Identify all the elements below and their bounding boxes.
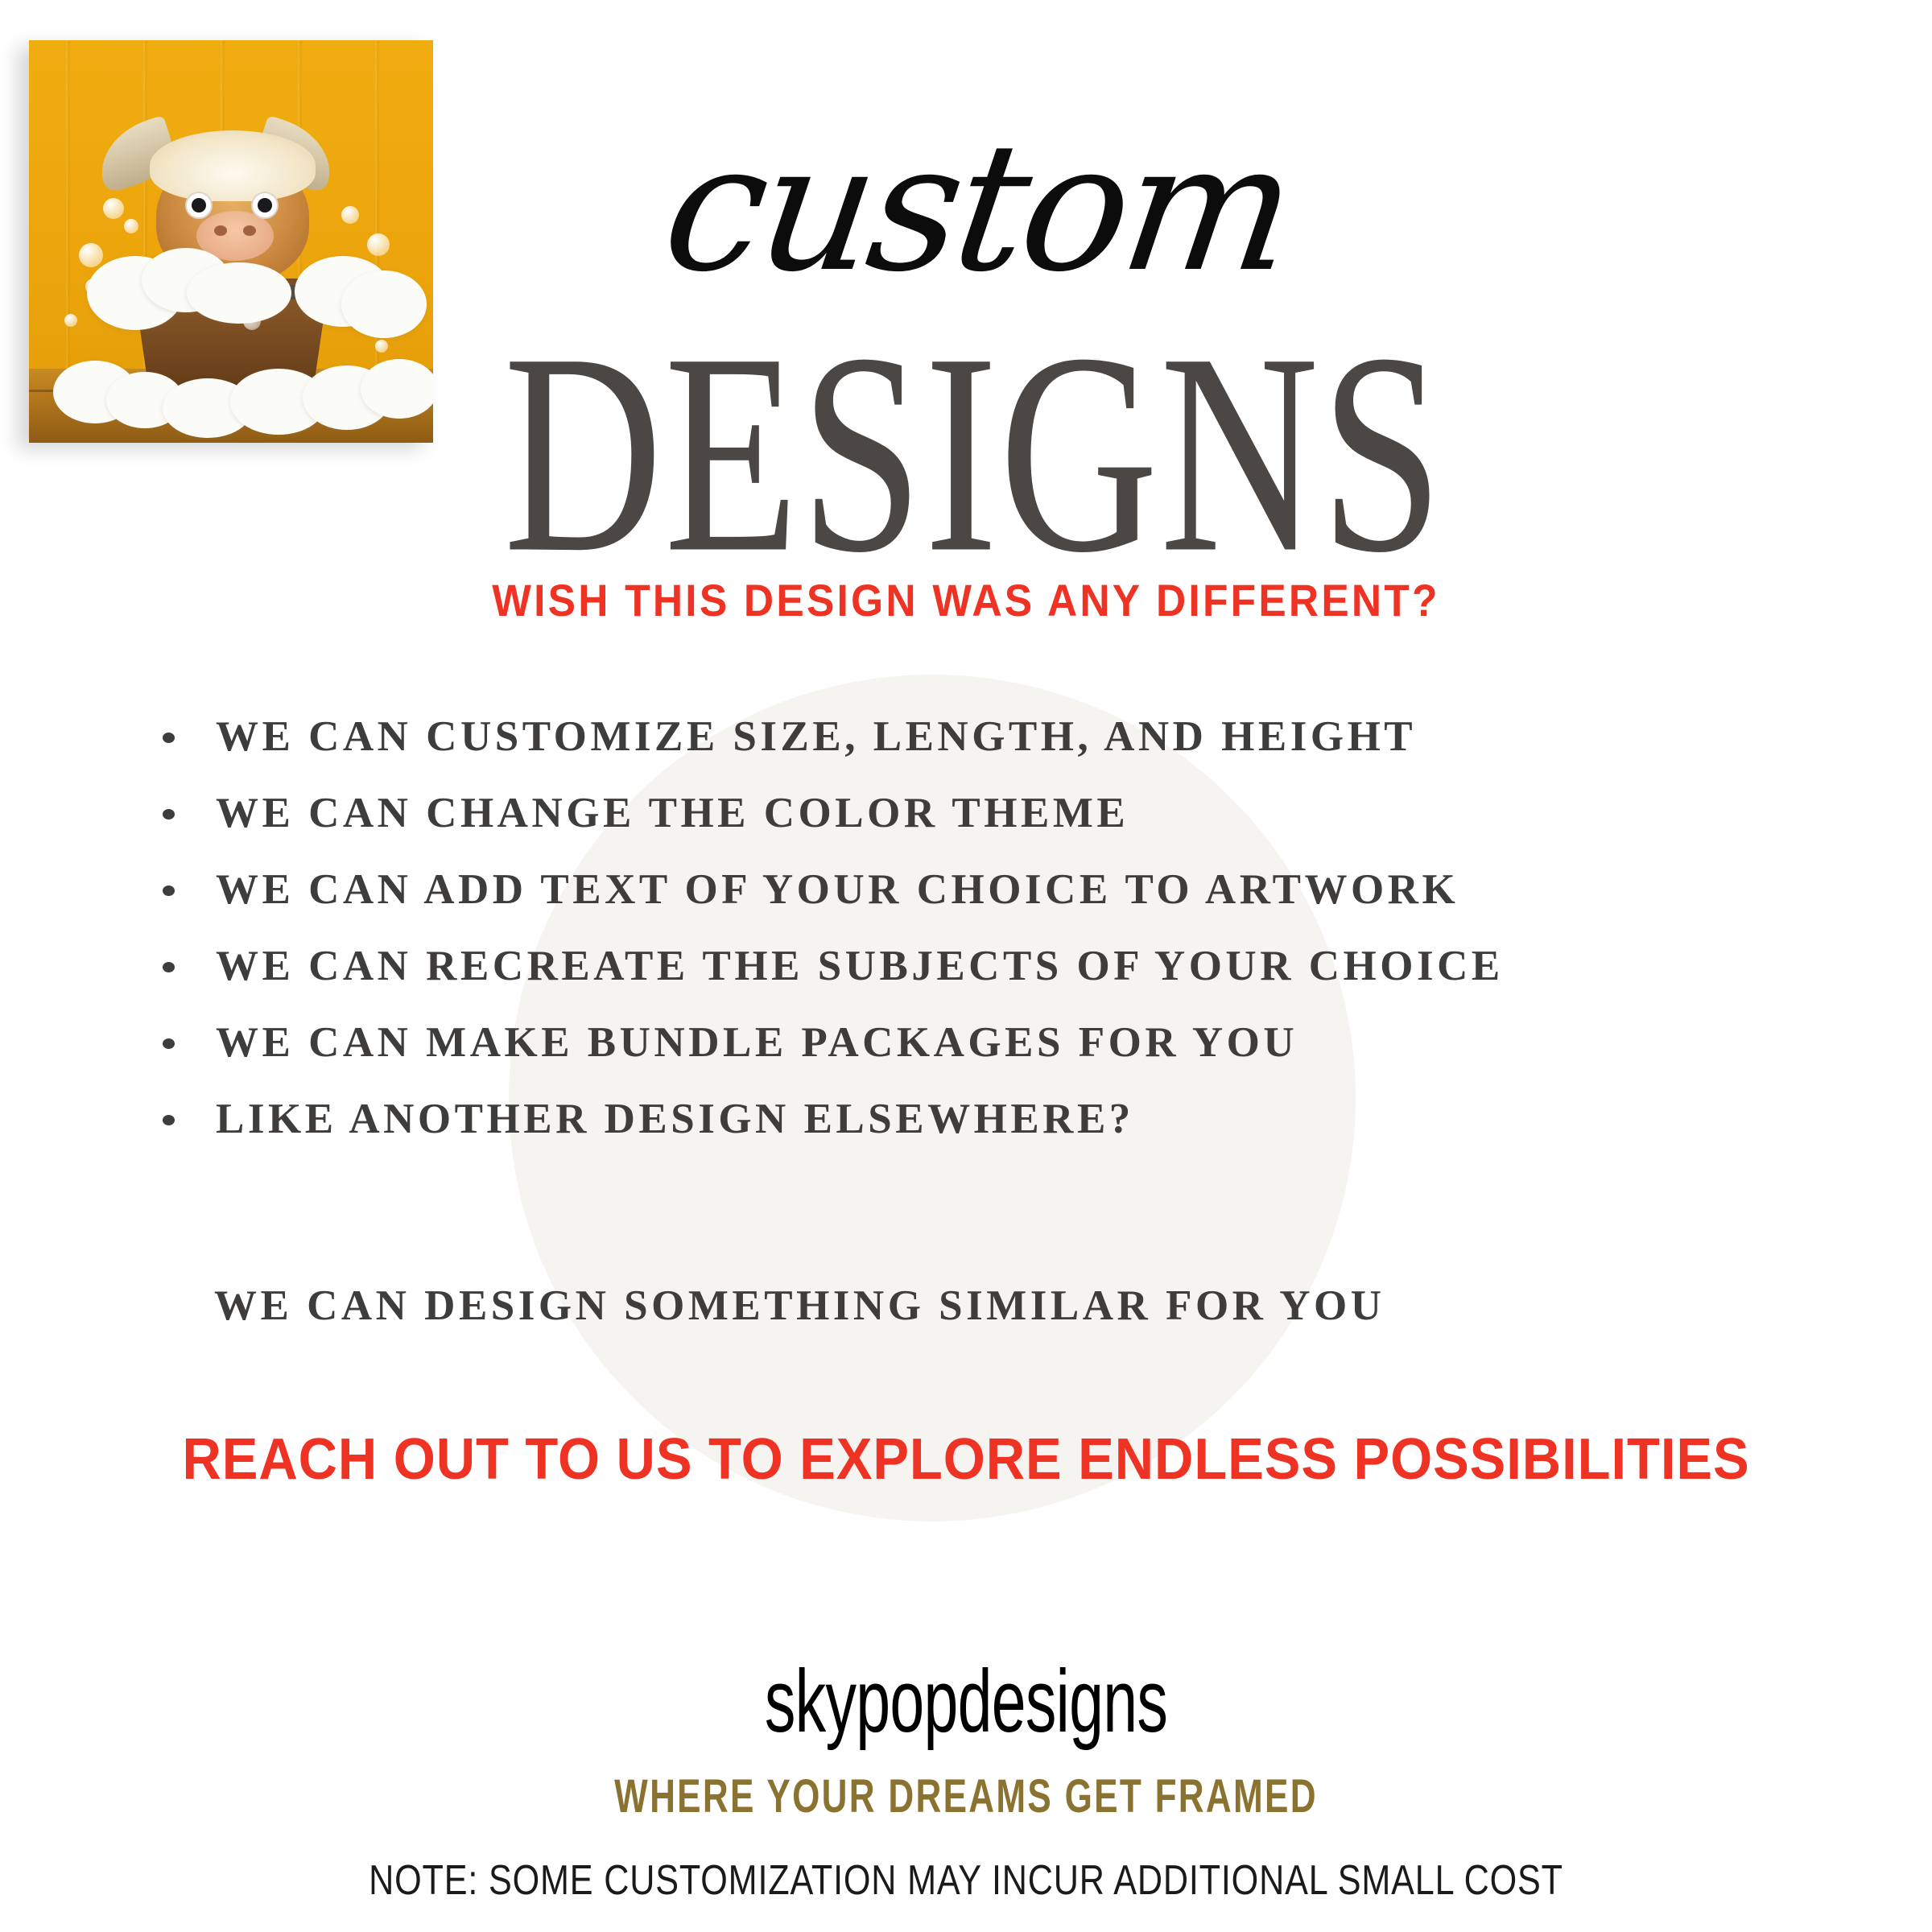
disclaimer-note: NOTE: SOME CUSTOMIZATION MAY INCUR ADDIT… — [164, 1856, 1768, 1905]
poster-canvas: custom DESIGNS WISH THIS DESIGN WAS ANY … — [0, 0, 1932, 1932]
bubble-icon — [64, 314, 77, 327]
script-heading-custom: custom — [418, 87, 1538, 328]
bubble-icon — [103, 198, 124, 219]
list-item: WE CAN CUSTOMIZE SIZE, LENGTH, AND HEIGH… — [158, 699, 1848, 775]
bullet-dot-icon — [163, 733, 175, 743]
customization-options-list: WE CAN CUSTOMIZE SIZE, LENGTH, AND HEIGH… — [158, 699, 1848, 1158]
brand-logo-text: skypopdesigns — [290, 1650, 1642, 1752]
list-item: WE CAN CHANGE THE COLOR THEME — [158, 775, 1848, 852]
list-continuation-line: WE CAN DESIGN SOMETHING SIMILAR FOR YOU — [214, 1282, 1385, 1330]
list-item-label: WE CAN RECREATE THE SUBJECTS OF YOUR CHO… — [216, 943, 1504, 989]
list-item-label: WE CAN CHANGE THE COLOR THEME — [216, 790, 1129, 836]
bubble-icon — [367, 233, 390, 256]
call-to-action-text: REACH OUT TO US TO EXPLORE ENDLESS POSSI… — [68, 1426, 1864, 1492]
list-item-label: WE CAN MAKE BUNDLE PACKAGES FOR YOU — [216, 1019, 1298, 1066]
bullet-dot-icon — [163, 809, 175, 819]
foam-blob — [187, 262, 291, 324]
cow-eye-left — [185, 192, 213, 219]
cow-eye-right — [251, 192, 279, 219]
bubble-icon — [341, 206, 359, 224]
bullet-dot-icon — [163, 885, 175, 896]
list-item: WE CAN RECREATE THE SUBJECTS OF YOUR CHO… — [158, 928, 1848, 1005]
bullet-dot-icon — [163, 1115, 175, 1125]
subtitle-question: WISH THIS DESIGN WAS ANY DIFFERENT? — [77, 574, 1855, 626]
list-item-label: LIKE ANOTHER DESIGN ELSEWHERE? — [216, 1096, 1134, 1142]
list-item: WE CAN ADD TEXT OF YOUR CHOICE TO ARTWOR… — [158, 852, 1848, 928]
page-title-designs: DESIGNS — [348, 322, 1600, 584]
list-item: LIKE ANOTHER DESIGN ELSEWHERE? — [158, 1081, 1848, 1158]
bullet-dot-icon — [163, 962, 175, 972]
list-item-label: WE CAN CUSTOMIZE SIZE, LENGTH, AND HEIGH… — [216, 713, 1416, 760]
list-item-label: WE CAN ADD TEXT OF YOUR CHOICE TO ARTWOR… — [216, 866, 1459, 913]
bubble-icon — [79, 243, 103, 267]
list-item: WE CAN MAKE BUNDLE PACKAGES FOR YOU — [158, 1005, 1848, 1081]
bullet-dot-icon — [163, 1038, 175, 1049]
brand-tagline: WHERE YOUR DREAMS GET FRAMED — [232, 1769, 1700, 1823]
bubble-icon — [124, 219, 138, 233]
cow-fringe — [150, 130, 316, 201]
